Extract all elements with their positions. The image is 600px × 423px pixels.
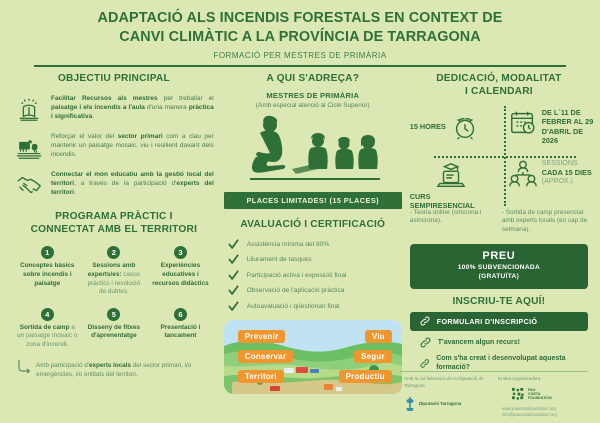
- diputacio-logo-text: Diputació Tarragona: [419, 401, 461, 407]
- avaluacio-item-label: Observació de l'aplicació pràctica: [247, 287, 345, 294]
- list-item: Observació de l'aplicació pràctica: [224, 285, 402, 296]
- footer: Amb la col·laboració de la Diputació de …: [0, 371, 600, 423]
- sessions-cell: SESSIONS CADA 15 DIES (APROX.): [508, 159, 597, 189]
- objectiu-heading: OBJECTIU PRINCIPAL: [14, 73, 214, 86]
- step-number: 4: [41, 308, 54, 321]
- formulari-inscripcio-button[interactable]: FORMULARI D'INSCRIPCIÓ: [410, 312, 588, 331]
- page-subtitle: FORMACIÓ PER MESTRES DE PRIMÀRIA: [30, 51, 570, 60]
- sessions-top-label: SESSIONS: [542, 159, 597, 168]
- footer-divider: [400, 371, 588, 372]
- modality-label: CURS SEMPIRESENCIAL: [410, 192, 499, 211]
- check-icon: [228, 239, 239, 250]
- check-icon: [228, 270, 239, 281]
- dedicacio-heading: DEDICACIÓ, MODALITAT I CALENDARI: [410, 73, 588, 99]
- dedicacio-heading-line-1: DEDICACIÓ, MODALITAT: [436, 73, 561, 84]
- hours-label: 15 HORES: [410, 122, 446, 131]
- column-right: DEDICACIÓ, MODALITAT I CALENDARI 15 HORE…: [406, 73, 592, 394]
- pcf-logo-text: PAU COSTA FOUNDATION: [528, 388, 552, 401]
- preu-line-1: 100% SUBVENCIONADA: [458, 264, 540, 271]
- resource-link-label: T'avancem algun recurs!: [438, 338, 520, 347]
- step-text-3: Sortida de camp a un paisatge mosaic o z…: [17, 324, 78, 350]
- dates-label: DE L´11 DE FEBRER AL 29 D'ABRIL DE 2026: [542, 108, 597, 146]
- pcf-logo-line-3: FOUNDATION: [528, 396, 552, 400]
- header: ADAPTACIÓ ALS INCENDIS FORESTALS EN CONT…: [0, 0, 600, 60]
- footer-urls[interactable]: www.paucostafoundation.org info@paucosta…: [498, 406, 594, 419]
- objectiu-item-text-2: Connectar el món educatiu amb la gestió …: [51, 170, 214, 198]
- about-link-row[interactable]: Com s'ha creat i desenvolupat aquesta fo…: [410, 354, 588, 373]
- step-number: 3: [174, 246, 187, 259]
- footer-email[interactable]: info@paucostafoundation.org: [502, 412, 594, 418]
- list-item: Assistència mínima del 80%: [224, 239, 402, 250]
- title-line-2: CANVI CLIMÀTIC A LA PROVÍNCIA DE TARRAGO…: [119, 29, 481, 45]
- adreca-heading: A QUI S'ADREÇA?: [224, 73, 402, 86]
- step-text-5: Presentació i tancament: [150, 324, 211, 341]
- laptop-graduation-icon: [410, 161, 499, 191]
- hours-cell: 15 HORES: [410, 112, 499, 142]
- link-icon: [420, 316, 430, 326]
- modality-note-online: - Teoria online (síncrona i asíncrona).: [410, 209, 496, 235]
- dates-cell: DE L´11 DE FEBRER AL 29 D'ABRIL DE 2026: [508, 108, 597, 146]
- step-number: 2: [107, 246, 120, 259]
- modality-cell: CURS SEMPIRESENCIAL: [410, 161, 499, 211]
- column-middle: A QUI S'ADREÇA? MESTRES DE PRIMÀRIA (Amb…: [220, 73, 406, 394]
- column-left: OBJECTIU PRINCIPAL Facilitar Recursos al…: [8, 73, 220, 394]
- check-icon: [228, 301, 239, 312]
- title-line-1: ADAPTACIÓ ALS INCENDIS FORESTALS EN CONT…: [98, 10, 503, 26]
- alarm-clock-icon: [450, 112, 480, 142]
- step-text-2: Experiències educatives i recursos didàc…: [150, 262, 211, 288]
- modality-note-field: - Sortida de camp presencial amb experts…: [502, 209, 588, 235]
- objectiu-item-text-1: Reforçar el valor del sector primari com…: [51, 132, 214, 160]
- scene-tag: Conservar: [238, 350, 293, 363]
- infographic-page: ADAPTACIÓ ALS INCENDIS FORESTALS EN CONT…: [0, 0, 600, 423]
- preu-line-2: (GRATUÏTA): [479, 273, 519, 280]
- adreca-subtitle: MESTRES DE PRIMÀRIA: [224, 91, 402, 100]
- step-number: 1: [41, 246, 54, 259]
- footer-organizer: Entitat organitzadora PAU COSTA FOUNDA: [498, 376, 594, 418]
- footer-collaborator: Amb la col·laboració de la Diputació de …: [404, 376, 492, 412]
- programa-heading-line-2: CONNECTAT AMB EL TERRITORI: [31, 224, 198, 235]
- objectiu-item: Facilitar Recursos als mestres per treba…: [14, 94, 214, 124]
- modality-label-line-2: SEMPIRESENCIAL: [410, 201, 475, 210]
- programa-step: 1 Conceptes bàsics sobre incendis i pais…: [14, 242, 81, 297]
- inscripcio-heading: INSCRIU-TE AQUÍ!: [410, 296, 588, 307]
- about-link-label: Com s'ha creat i desenvolupat aquesta fo…: [436, 354, 578, 373]
- modality-label-line-1: CURS: [410, 192, 431, 201]
- footer-collab-label: Amb la col·laboració de la Diputació de …: [404, 376, 492, 389]
- check-icon: [228, 254, 239, 265]
- list-item: Lliurament de tasques: [224, 254, 402, 265]
- step-text-1: Sessions amb experts/es: casos pràctics …: [84, 262, 145, 297]
- check-icon: [228, 285, 239, 296]
- objectiu-item: Reforçar el valor del sector primari com…: [14, 132, 214, 162]
- step-number: 5: [107, 308, 120, 321]
- people-group-icon: [508, 159, 538, 189]
- grid-divider-horizontal: [434, 156, 576, 158]
- avaluacio-item-label: Lliurament de tasques: [247, 256, 312, 263]
- columns-container: OBJECTIU PRINCIPAL Facilitar Recursos al…: [0, 67, 600, 394]
- footer-organizer-label: Entitat organitzadora: [498, 376, 594, 383]
- livestock-landscape-icon: [14, 132, 44, 162]
- step-number: 6: [174, 308, 187, 321]
- programa-heading: PROGRAMA PRÀCTIC I CONNECTAT AMB EL TERR…: [14, 211, 214, 237]
- list-item: Participació activa i exposició final: [224, 270, 402, 281]
- handshake-icon: [14, 170, 44, 200]
- scene-tag: Segur: [354, 350, 392, 363]
- diputacio-emblem-icon: [404, 396, 416, 412]
- book-idea-icon: [14, 94, 44, 124]
- avaluacio-item-label: Autoavaluació i qüestionari final: [247, 303, 340, 310]
- link-icon: [420, 358, 429, 369]
- preu-box: PREU 100% SUBVENCIONADA (GRATUÏTA): [410, 244, 588, 289]
- formulari-inscripcio-label: FORMULARI D'INSCRIPCIÓ: [437, 317, 538, 326]
- adreca-detail: (Amb especial atenció al Cicle Superior): [224, 102, 402, 109]
- diputacio-tarragona-logo: Diputació Tarragona: [404, 396, 492, 412]
- avaluacio-heading: AVALUACIÓ I CERTIFICACIÓ: [224, 219, 402, 232]
- scene-tag: Prevenir: [238, 330, 286, 343]
- step-text-4: Disseny de fitxes d'aprenentatge: [84, 324, 145, 341]
- programa-step: 3 Experiències educatives i recursos did…: [147, 242, 214, 297]
- pau-costa-foundation-logo: PAU COSTA FOUNDATION: [498, 388, 594, 401]
- dedicacio-grid: 15 HORES: [410, 106, 588, 206]
- objectiu-item-text-0: Facilitar Recursos als mestres per treba…: [51, 94, 214, 122]
- dedicacio-heading-line-2: I CALENDARI: [465, 86, 533, 97]
- link-icon: [420, 337, 431, 348]
- teacher-with-students-illustration: [230, 113, 396, 187]
- programa-step: 5 Disseny de fitxes d'aprenentatge: [81, 304, 148, 350]
- sessions-bottom-label: (APROX.): [542, 177, 597, 186]
- programa-step: 2 Sessions amb experts/es: casos pràctic…: [81, 242, 148, 297]
- programa-step: 6 Presentació i tancament: [147, 304, 214, 350]
- step-text-0: Conceptes bàsics sobre incendis i paisat…: [17, 262, 78, 288]
- objectiu-item: Connectar el món educatiu amb la gestió …: [14, 170, 214, 200]
- avaluacio-item-label: Participació activa i exposició final: [247, 272, 347, 279]
- page-title: ADAPTACIÓ ALS INCENDIS FORESTALS EN CONT…: [30, 9, 570, 47]
- calendar-clock-icon: [508, 108, 538, 138]
- places-limitades-banner: PLACES LIMITADES! (15 PLACES): [224, 192, 402, 209]
- resource-link-row[interactable]: T'avancem algun recurs!: [410, 337, 588, 348]
- programa-heading-line-1: PROGRAMA PRÀCTIC I: [55, 211, 173, 222]
- pcf-emblem-icon: [512, 388, 525, 401]
- avaluacio-list: Assistència mínima del 80% Lliurament de…: [224, 239, 402, 312]
- preu-title: PREU: [414, 250, 584, 262]
- preu-detail: 100% SUBVENCIONADA (GRATUÏTA): [414, 264, 584, 282]
- modality-notes: - Teoria online (síncrona i asíncrona). …: [410, 209, 588, 235]
- list-item: Autoavaluació i qüestionari final: [224, 301, 402, 312]
- sessions-mid-label: CADA 15 DIES: [542, 168, 597, 177]
- programa-step: 4 Sortida de camp a un paisatge mosaic o…: [14, 304, 81, 350]
- avaluacio-item-label: Assistència mínima del 80%: [247, 241, 329, 248]
- scene-tag: Viu: [365, 330, 392, 343]
- programa-steps-grid: 1 Conceptes bàsics sobre incendis i pais…: [14, 242, 214, 356]
